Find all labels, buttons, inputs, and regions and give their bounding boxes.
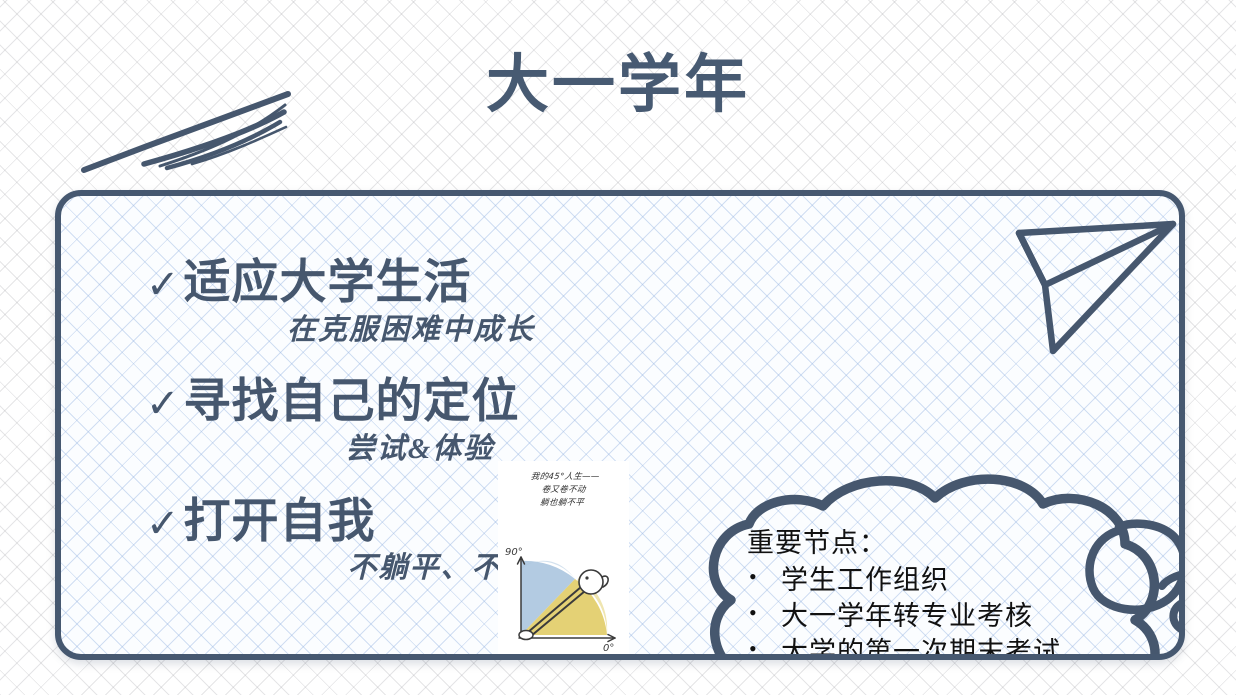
callout-item: 学生工作组织 [747, 563, 1127, 599]
cloud-callout: 重要节点： 学生工作组织 大一学年转专业考核 大学的第一次期末考试 [673, 468, 1173, 660]
check-icon: ✓ [146, 384, 180, 424]
content-panel: ✓ 适应大学生活 在克服困难中成长 ✓ 寻找自己的定位 尝试&体验 ✓ 打开自我… [55, 190, 1185, 660]
handwritten-caption: 我的45°人生—— 卷又卷不动 躺也躺不平 [498, 471, 629, 511]
callout-item: 大学的第一次期末考试 [747, 635, 1127, 660]
bullet-heading: ✓ 适应大学生活 [146, 256, 616, 309]
bullet-title: 打开自我 [184, 495, 376, 548]
bullet-subtitle: 在克服困难中成长 [146, 313, 616, 348]
check-icon: ✓ [146, 265, 180, 305]
callout-text: 重要节点： 学生工作组织 大一学年转专业考核 大学的第一次期末考试 [747, 526, 1127, 660]
slide-canvas: 大一学年 ✓ 适应大学生活 在克服困难中成长 [0, 0, 1236, 695]
illustration-card: 我的45°人生—— 卷又卷不动 躺也躺不平 [498, 461, 629, 654]
bullet-title: 适应大学生活 [184, 256, 472, 309]
callout-item-list: 学生工作组织 大一学年转专业考核 大学的第一次期末考试 [747, 563, 1127, 660]
handwriting-line-3: 躺也躺不平 [498, 497, 628, 510]
handwriting-line-1: 我的45°人生—— [499, 471, 629, 484]
page-title: 大一学年 [0, 52, 1236, 118]
handwriting-line-2: 卷又卷不动 [498, 484, 629, 497]
callout-item: 大一学年转专业考核 [747, 599, 1127, 635]
bullet-item-2: ✓ 寻找自己的定位 尝试&体验 [146, 375, 616, 466]
callout-heading: 重要节点： [747, 526, 1127, 562]
axis-label-y: 90° [505, 547, 523, 558]
paper-plane-icon [1001, 211, 1185, 366]
angle-diagram-illustration: 90° 0° [503, 539, 628, 651]
check-icon: ✓ [146, 504, 180, 544]
bullet-heading: ✓ 寻找自己的定位 [146, 375, 616, 428]
axis-label-x: 0° [603, 643, 614, 651]
bullet-item-1: ✓ 适应大学生活 在克服困难中成长 [146, 256, 616, 347]
bullet-title: 寻找自己的定位 [184, 375, 520, 428]
